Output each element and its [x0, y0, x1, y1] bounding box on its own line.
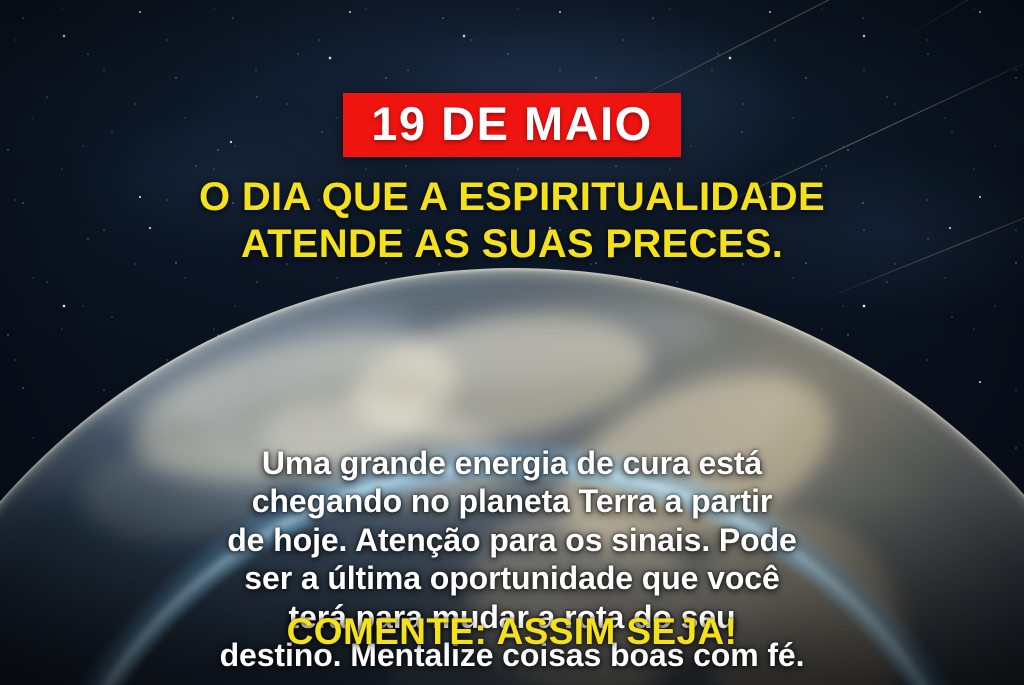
body-line: chegando no planeta Terra a partir	[72, 482, 952, 520]
headline: O DIA QUE A ESPIRITUALIDADE ATENDE AS SU…	[199, 174, 825, 268]
call-to-action-text: COMENTE: ASSIM SEJA!	[287, 611, 738, 653]
headline-line-1: O DIA QUE A ESPIRITUALIDADE	[199, 174, 825, 221]
poster-content: 19 DE MAIO O DIA QUE A ESPIRITUALIDADE A…	[0, 0, 1024, 685]
date-banner-label: 19 DE MAIO	[371, 100, 652, 147]
date-banner: 19 DE MAIO	[343, 93, 680, 157]
body-line: ser a última oportunidade que você	[72, 559, 952, 597]
body-line: Uma grande energia de cura está	[72, 444, 952, 482]
social-media-poster: 19 DE MAIO O DIA QUE A ESPIRITUALIDADE A…	[0, 0, 1024, 685]
headline-line-2: ATENDE AS SUAS PRECES.	[199, 221, 825, 268]
body-line: de hoje. Atenção para os sinais. Pode	[72, 521, 952, 559]
